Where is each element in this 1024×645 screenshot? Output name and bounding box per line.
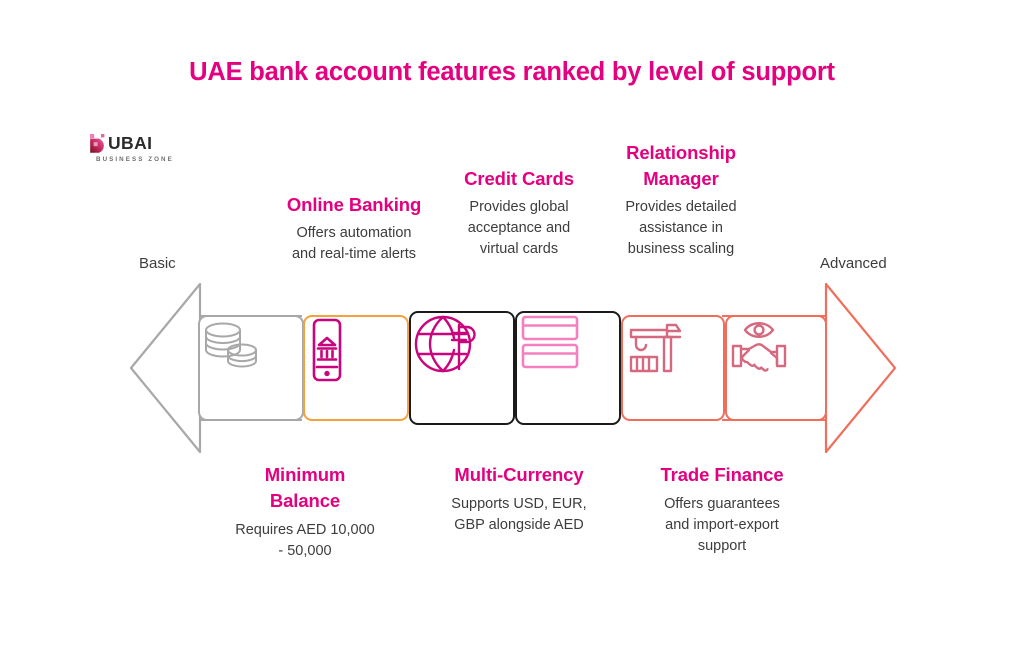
feature-box-row xyxy=(0,0,1024,645)
feature-box-credit-cards[interactable] xyxy=(515,311,621,425)
feature-box-multi-currency[interactable] xyxy=(409,311,515,425)
label-title-line-2: Manager xyxy=(598,166,764,192)
label-description: Offers guarantees and import-export supp… xyxy=(637,494,807,557)
label-title-line-2: Balance xyxy=(212,488,398,514)
label-desc-line-2: acceptance and xyxy=(438,218,600,239)
label-desc-line-2: and real-time alerts xyxy=(254,244,454,265)
label-relationship-manager: Relationship Manager Provides detailed a… xyxy=(598,140,764,260)
feature-box-relationship-manager[interactable] xyxy=(725,315,827,421)
label-desc-line-2: assistance in xyxy=(598,218,764,239)
label-desc-line-2: and import-export xyxy=(637,515,807,536)
label-description: Supports USD, EUR, GBP alongside AED xyxy=(424,494,614,536)
label-desc-line-1: Offers automation xyxy=(254,223,454,244)
label-desc-line-2: - 50,000 xyxy=(212,541,398,562)
label-minimum-balance: Minimum Balance Requires AED 10,000 - 50… xyxy=(212,462,398,562)
label-credit-cards: Credit Cards Provides global acceptance … xyxy=(438,166,600,260)
label-title: Trade Finance xyxy=(637,462,807,488)
label-desc-line-2: GBP alongside AED xyxy=(424,515,614,536)
label-desc-line-1: Offers guarantees xyxy=(637,494,807,515)
label-desc-line-1: Requires AED 10,000 xyxy=(212,520,398,541)
label-desc-line-1: Supports USD, EUR, xyxy=(424,494,614,515)
label-title: Online Banking xyxy=(254,192,454,218)
label-desc-line-3: business scaling xyxy=(598,239,764,260)
globe-currency-icon xyxy=(411,313,481,375)
label-description: Provides global acceptance and virtual c… xyxy=(438,197,600,260)
label-title: Credit Cards xyxy=(438,166,600,192)
mobile-banking-icon xyxy=(305,317,349,383)
label-title-line-1: Relationship xyxy=(598,140,764,166)
infographic-page: UAE bank account features ranked by leve… xyxy=(0,0,1024,645)
label-desc-line-3: support xyxy=(637,536,807,557)
label-desc-line-1: Provides global xyxy=(438,197,600,218)
label-online-banking: Online Banking Offers automation and rea… xyxy=(254,192,454,265)
credit-cards-icon xyxy=(517,313,583,371)
label-description: Requires AED 10,000 - 50,000 xyxy=(212,520,398,562)
label-trade-finance: Trade Finance Offers guarantees and impo… xyxy=(637,462,807,557)
label-title: Multi-Currency xyxy=(424,462,614,488)
label-multi-currency: Multi-Currency Supports USD, EUR, GBP al… xyxy=(424,462,614,536)
feature-box-minimum-balance[interactable] xyxy=(198,315,304,421)
label-desc-line-1: Provides detailed xyxy=(598,197,764,218)
label-description: Provides detailed assistance in business… xyxy=(598,197,764,260)
coin-stack-icon xyxy=(200,317,262,373)
label-description: Offers automation and real-time alerts xyxy=(254,223,454,265)
label-title-line-1: Minimum xyxy=(212,462,398,488)
arrow-scale-graphic xyxy=(0,0,1024,645)
handshake-eye-icon xyxy=(727,317,791,377)
feature-box-online-banking[interactable] xyxy=(303,315,409,421)
label-desc-line-3: virtual cards xyxy=(438,239,600,260)
crane-icon xyxy=(623,317,687,377)
feature-box-trade-finance[interactable] xyxy=(621,315,725,421)
